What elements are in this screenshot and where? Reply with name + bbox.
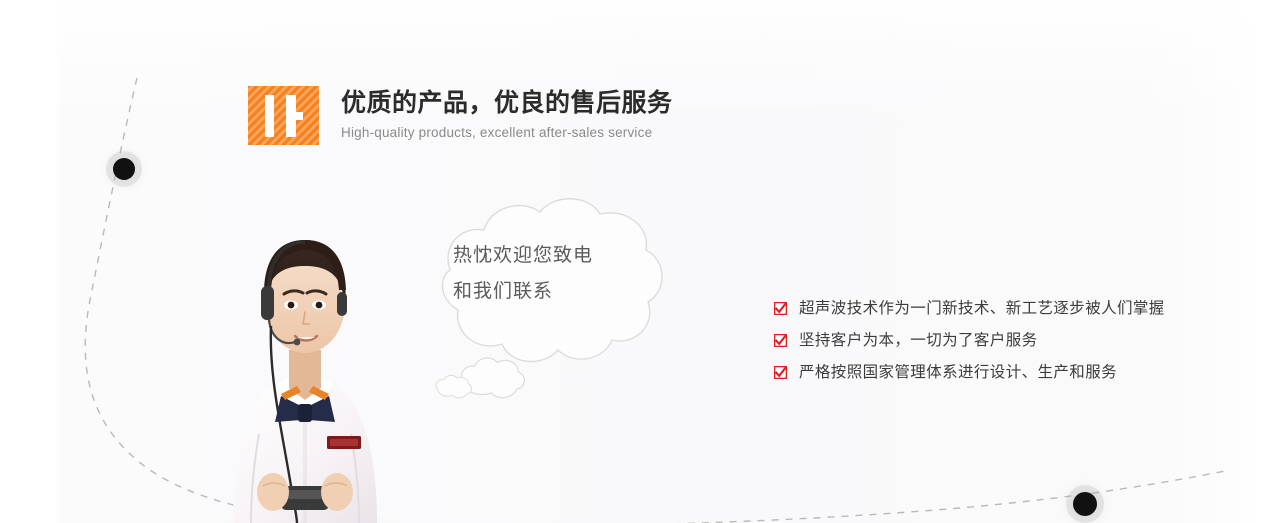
list-item: 严格按照国家管理体系进行设计、生产和服务: [774, 362, 1214, 383]
list-item-label: 超声波技术作为一门新技术、新工艺逐步被人们掌握: [799, 298, 1165, 319]
upper-left-node-dot: [113, 158, 135, 180]
speech-bubble-text: 热忱欢迎您致电 和我们联系: [453, 238, 653, 310]
lower-right-node-dot: [1073, 492, 1097, 516]
check-square-icon: [774, 334, 787, 347]
speech-bubble-line-2: 和我们联系: [453, 274, 653, 310]
list-item-label: 坚持客户为本，一切为了客户服务: [799, 330, 1038, 351]
section-number-badge: [248, 86, 319, 145]
check-square-icon: [774, 366, 787, 379]
digit-zero-glyph: [258, 95, 281, 137]
speech-bubble: 热忱欢迎您致电 和我们联系: [398, 190, 698, 440]
heading-text-block: 优质的产品，优良的售后服务 High-quality products, exc…: [341, 86, 673, 142]
promo-banner: 优质的产品，优良的售后服务 High-quality products, exc…: [0, 0, 1280, 523]
check-square-icon: [774, 302, 787, 315]
list-item-label: 严格按照国家管理体系进行设计、生产和服务: [799, 362, 1117, 383]
page-subtitle: High-quality products, excellent after-s…: [341, 124, 673, 142]
section-heading: 优质的产品，优良的售后服务 High-quality products, exc…: [248, 86, 673, 145]
list-item: 坚持客户为本，一切为了客户服务: [774, 330, 1214, 351]
digit-three-glyph: [286, 95, 309, 137]
page-title: 优质的产品，优良的售后服务: [341, 87, 673, 119]
speech-bubble-line-1: 热忱欢迎您致电: [453, 238, 653, 274]
feature-list: 超声波技术作为一门新技术、新工艺逐步被人们掌握 坚持客户为本，一切为了客户服务 …: [774, 298, 1214, 394]
list-item: 超声波技术作为一门新技术、新工艺逐步被人们掌握: [774, 298, 1214, 319]
agent-photo: [185, 186, 425, 523]
